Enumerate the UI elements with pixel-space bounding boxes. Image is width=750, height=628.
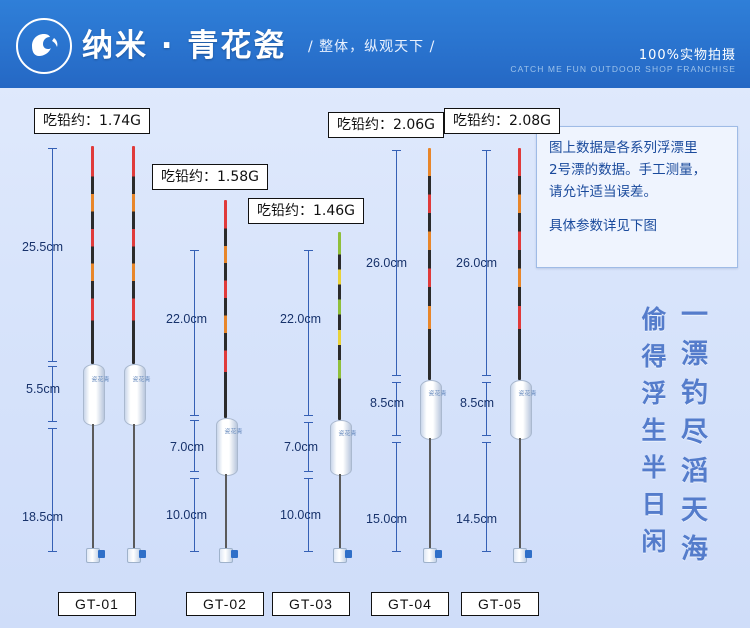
dim-text-gt04-top: 26.0cm (366, 256, 407, 270)
model-label-gt-03: GT-03 (272, 592, 350, 616)
info-box: 图上数据是各系列浮漂里 2号漂的数据。手工测量， 请允许适当误差。 具体参数详见… (536, 126, 738, 268)
dim-line-gt03-top (308, 250, 309, 416)
header-note-primary: 100%实物拍摄 (639, 44, 736, 63)
calligraphy-column-1: 一漂钓尽滔天海 (672, 300, 711, 573)
model-label-gt-05: GT-05 (461, 592, 539, 616)
dim-text-gt01-top: 25.5cm (22, 240, 63, 254)
float-body-text: 青花瓷 (517, 390, 535, 396)
header-note-secondary: CATCH ME FUN OUTDOOR SHOP FRANCHISE (510, 64, 736, 74)
float-body-text: 青花瓷 (90, 376, 108, 382)
dim-line-gt05-bot (486, 442, 487, 552)
brand-title: 纳米 · 青花瓷 (82, 20, 286, 65)
lead-label-gt-01: 吃铅约：1.74G (34, 108, 150, 134)
float-body-text: 青花瓷 (223, 428, 241, 434)
dim-line-gt02-top (194, 250, 195, 416)
dim-text-gt01-bot: 18.5cm (22, 510, 63, 524)
dim-text-gt05-top: 26.0cm (456, 256, 497, 270)
dim-line-gt01-top (52, 148, 53, 362)
info-line-2: 2号漂的数据。手工测量， (549, 159, 725, 181)
info-line-4: 具体参数详见下图 (549, 215, 725, 237)
dim-text-gt03-mid: 7.0cm (284, 440, 318, 454)
page-header: 纳米 · 青花瓷 / 整体，纵观天下 / 100%实物拍摄 CATCH ME F… (0, 0, 750, 88)
float-body-text: 青花瓷 (427, 390, 445, 396)
calligraphy-column-2: 偷得浮生半日闲 (634, 306, 670, 565)
brand-slogan: / 整体，纵观天下 / (308, 36, 435, 56)
lead-label-gt-03: 吃铅约：1.46G (248, 198, 364, 224)
dim-text-gt04-mid: 8.5cm (370, 396, 404, 410)
dim-text-gt01-mid: 5.5cm (26, 382, 60, 396)
model-label-gt-01: GT-01 (58, 592, 136, 616)
page-root: 纳米 · 青花瓷 / 整体，纵观天下 / 100%实物拍摄 CATCH ME F… (0, 0, 750, 628)
dim-text-gt02-mid: 7.0cm (170, 440, 204, 454)
lead-label-gt-05: 吃铅约：2.08G (444, 108, 560, 134)
dim-text-gt04-bot: 15.0cm (366, 512, 407, 526)
dim-line-gt01-bot (52, 428, 53, 552)
model-label-gt-02: GT-02 (186, 592, 264, 616)
float-body-text: 青花瓷 (337, 430, 355, 436)
dim-text-gt03-top: 22.0cm (280, 312, 321, 326)
fish-logo-icon (16, 18, 72, 74)
dim-text-gt05-bot: 14.5cm (456, 512, 497, 526)
info-line-1: 图上数据是各系列浮漂里 (549, 137, 725, 159)
model-label-gt-04: GT-04 (371, 592, 449, 616)
dim-text-gt02-top: 22.0cm (166, 312, 207, 326)
info-line-3: 请允许适当误差。 (549, 181, 725, 203)
float-body-text: 青花瓷 (131, 376, 149, 382)
dim-text-gt02-bot: 10.0cm (166, 508, 207, 522)
lead-label-gt-02: 吃铅约：1.58G (152, 164, 268, 190)
dim-text-gt05-mid: 8.5cm (460, 396, 494, 410)
dim-line-gt04-bot (396, 442, 397, 552)
dim-text-gt03-bot: 10.0cm (280, 508, 321, 522)
lead-label-gt-04: 吃铅约：2.06G (328, 112, 444, 138)
